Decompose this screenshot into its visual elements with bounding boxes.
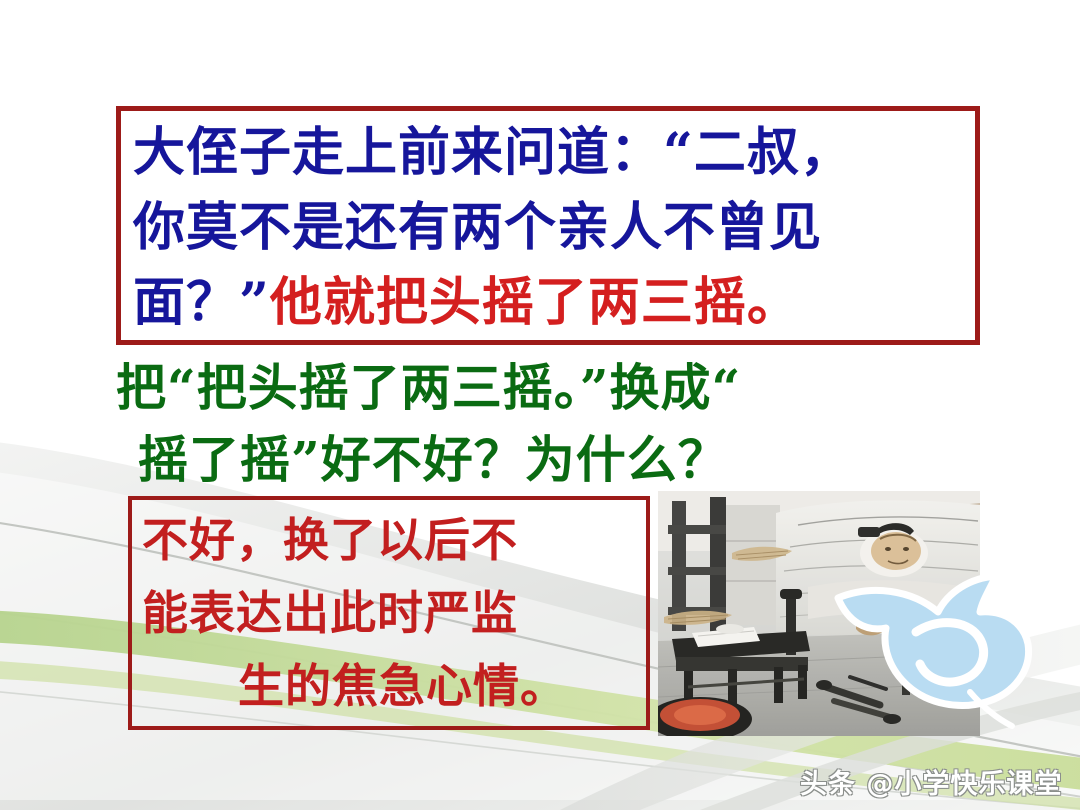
answer-text-box-content: 不好，换了以后不 能表达出此时严监 生的焦急心情。 bbox=[132, 500, 646, 723]
quote-line-3-blue-segment: 面？” bbox=[133, 272, 270, 333]
quote-line-1: 大侄子走上前来问道：“二叔， bbox=[133, 115, 967, 190]
answer-line-2: 能表达出此时严监 bbox=[142, 577, 638, 650]
quote-text-box-content: 大侄子走上前来问道：“二叔， 你莫不是还有两个亲人不曾见 面？”他就把头摇了两三… bbox=[121, 111, 975, 340]
quote-line-2: 你莫不是还有两个亲人不曾见 bbox=[133, 190, 967, 265]
question-line-1: 把“把头摇了两三摇。”换成“ bbox=[116, 352, 1016, 424]
answer-line-3: 生的焦急心情。 bbox=[142, 650, 638, 723]
answer-text-box: 不好，换了以后不 能表达出此时严监 生的焦急心情。 bbox=[128, 496, 650, 730]
slide-canvas: 大侄子走上前来问道：“二叔， 你莫不是还有两个亲人不曾见 面？”他就把头摇了两三… bbox=[0, 0, 1080, 810]
quote-line-3: 面？”他就把头摇了两三摇。 bbox=[133, 265, 967, 340]
scene-illustration bbox=[658, 491, 980, 736]
question-line-2: 摇了摇”好不好？为什么？ bbox=[116, 424, 1016, 496]
quote-line-3-red-segment: 他就把头摇了两三摇。 bbox=[270, 272, 800, 333]
answer-line-1: 不好，换了以后不 bbox=[142, 504, 638, 577]
channel-watermark: 头条 @小学快乐课堂 bbox=[800, 762, 1062, 801]
quote-text-box: 大侄子走上前来问道：“二叔， 你莫不是还有两个亲人不曾见 面？”他就把头摇了两三… bbox=[116, 106, 980, 345]
question-text: 把“把头摇了两三摇。”换成“ 摇了摇”好不好？为什么？ bbox=[116, 352, 1016, 496]
